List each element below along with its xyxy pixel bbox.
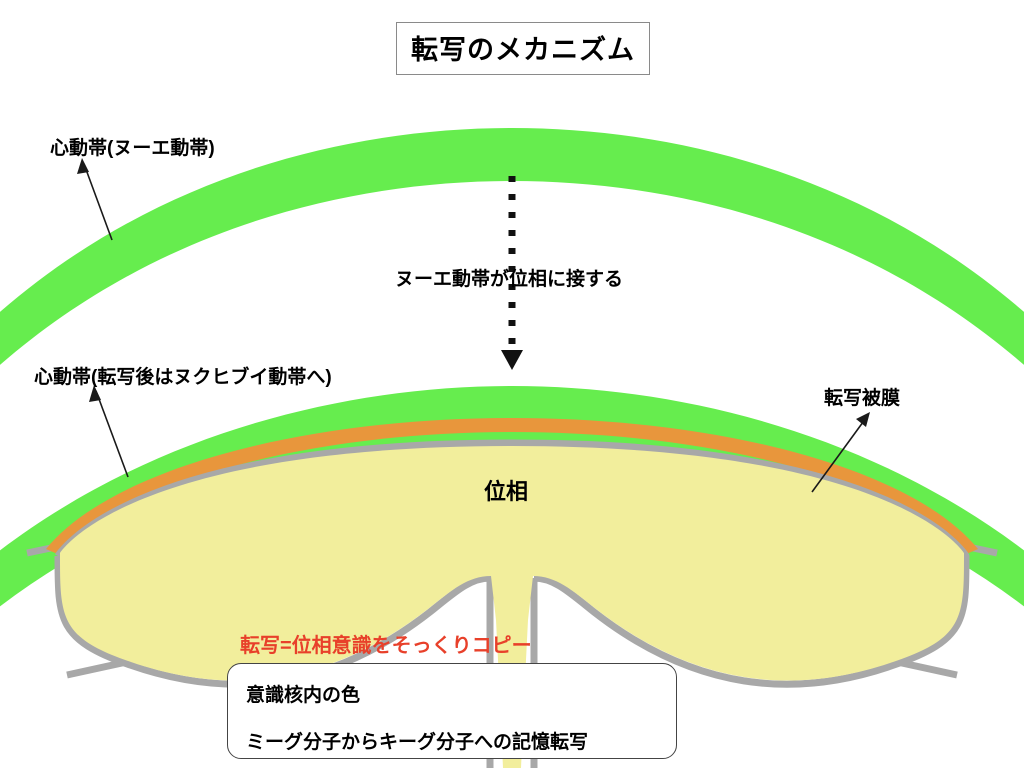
note-box: 意識核内の色 ミーグ分子からキーグ分子への記憶転写 [227, 663, 677, 759]
upper-green-band-shape [0, 128, 1024, 383]
label-phase-region: 位相 [484, 474, 528, 506]
leader-arrow-lower-left-line [96, 391, 128, 477]
leader-arrow-top-left-head [77, 158, 89, 174]
label-copy-caption: 転写=位相意識をそっくりコピー [240, 629, 532, 658]
diagram-canvas: 転写のメカニズム 心動帯(ヌーエ動帯) ヌーエ動帯が位相に接する 心動帯(転写後… [0, 0, 1024, 768]
note-line-memory-transfer: ミーグ分子からキーグ分子への記憶転写 [246, 727, 676, 754]
label-upper-green-band: 心動帯(ヌーエ動帯) [50, 133, 215, 160]
label-lower-green-band: 心動帯(転写後はヌクヒブイ動帯へ) [34, 362, 332, 389]
page-title: 転写のメカニズム [396, 22, 650, 75]
label-contact-caption: ヌーエ動帯が位相に接する [395, 264, 623, 291]
label-transcription-membrane: 転写被膜 [824, 383, 900, 410]
dotted-contact-arrow-head [501, 350, 523, 370]
leader-arrow-top-left-line [84, 164, 112, 240]
note-line-consciousness-core-color: 意識核内の色 [246, 680, 676, 707]
leader-arrow-membrane-head [856, 412, 870, 427]
